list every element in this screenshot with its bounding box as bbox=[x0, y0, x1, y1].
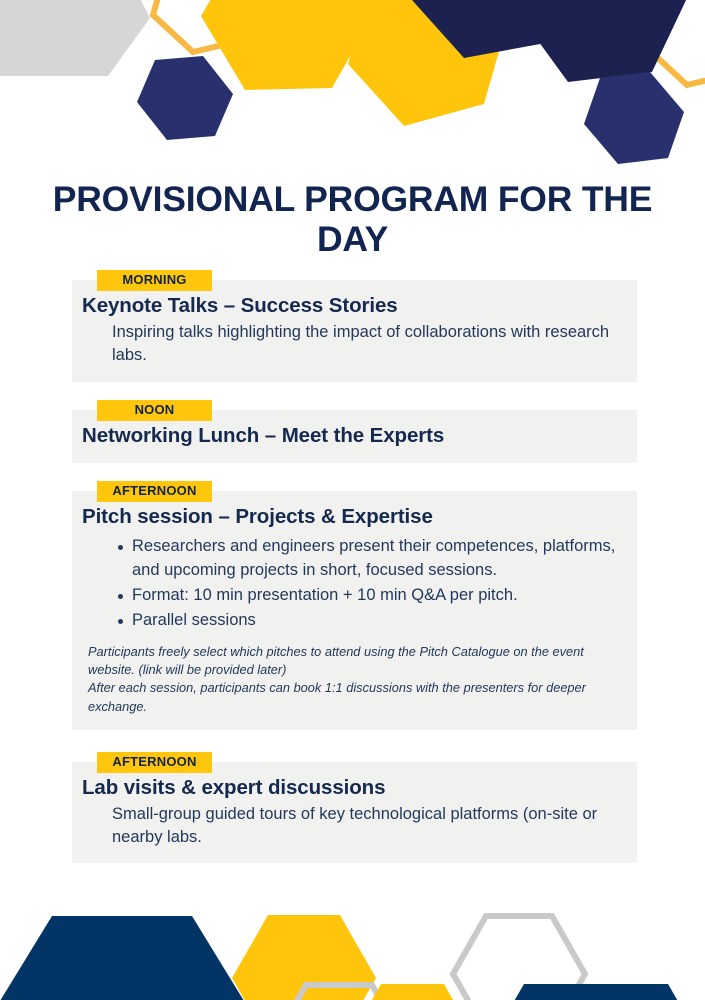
list-item: Parallel sessions bbox=[118, 609, 619, 633]
session-heading: Lab visits & expert discussions bbox=[78, 776, 619, 801]
page-title: PROVISIONAL PROGRAM FOR THE DAY bbox=[22, 180, 683, 260]
time-badge: AFTERNOON bbox=[97, 481, 212, 502]
session-heading: Networking Lunch – Meet the Experts bbox=[78, 424, 619, 449]
session-heading: Keynote Talks – Success Stories bbox=[78, 294, 619, 319]
session-notes: Participants freely select which pitches… bbox=[78, 643, 619, 716]
program-section-noon: NOON Networking Lunch – Meet the Experts bbox=[0, 400, 705, 463]
session-description: Inspiring talks highlighting the impact … bbox=[78, 321, 619, 368]
list-item: Format: 10 min presentation + 10 min Q&A… bbox=[118, 584, 619, 608]
program-section-pitch: AFTERNOON Pitch session – Projects & Exp… bbox=[0, 481, 705, 730]
time-badge: MORNING bbox=[97, 270, 212, 291]
session-note: After each session, participants can boo… bbox=[78, 679, 619, 715]
hexagon-pattern-top-icon bbox=[0, 0, 705, 175]
time-badge: AFTERNOON bbox=[97, 752, 212, 773]
session-card: Pitch session – Projects & Expertise Res… bbox=[72, 491, 637, 730]
session-card: Keynote Talks – Success Stories Inspirin… bbox=[72, 280, 637, 381]
time-badge: NOON bbox=[97, 400, 212, 421]
poster-page: PROVISIONAL PROGRAM FOR THE DAY MORNING … bbox=[0, 0, 705, 1000]
session-bullet-list: Researchers and engineers present their … bbox=[78, 535, 619, 633]
program-section-lab-visits: AFTERNOON Lab visits & expert discussion… bbox=[0, 752, 705, 864]
session-heading: Pitch session – Projects & Expertise bbox=[78, 505, 619, 530]
session-card: Lab visits & expert discussions Small-gr… bbox=[72, 762, 637, 863]
session-note: Participants freely select which pitches… bbox=[78, 643, 619, 679]
list-item: Researchers and engineers present their … bbox=[118, 535, 619, 583]
program-list: MORNING Keynote Talks – Success Stories … bbox=[0, 270, 705, 863]
program-section-morning: MORNING Keynote Talks – Success Stories … bbox=[0, 270, 705, 382]
session-description: Small-group guided tours of key technolo… bbox=[78, 803, 619, 850]
hexagon-pattern-bottom-icon bbox=[0, 890, 705, 1000]
